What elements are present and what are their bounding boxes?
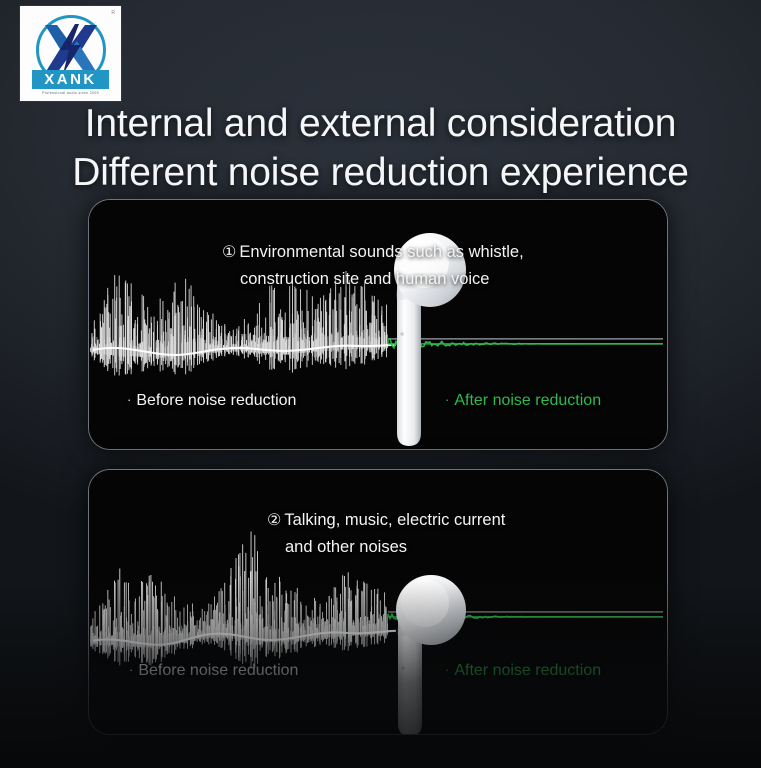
panel-1-before-label: ·Before noise reduction [127,390,296,411]
bullet-icon: · [127,392,131,407]
logo-x-bolt-icon [43,23,99,75]
panel-1-caption-line-2: construction site and human voice [240,266,524,292]
promo-graphic: XANK Professional audio since 2009 R Int… [0,0,761,768]
panel-2-before-text: Before noise reduction [138,662,298,679]
panel-2-caption-line-1: Talking, music, electric current [284,511,505,529]
panel-2-after-text: After noise reduction [454,662,601,679]
panel-1-number: ① [222,244,236,261]
panel-1-after-text: After noise reduction [454,392,601,409]
page-title: Internal and external consideration Diff… [0,99,761,197]
panel-1-after-label: ·After noise reduction [445,390,601,411]
noise-panel-2: ②Talking, music, electric current and ot… [88,469,668,735]
logo-wordmark: XANK [32,70,109,89]
panel-2-after-label: ·After noise reduction [445,660,601,681]
panel-1-before-text: Before noise reduction [136,392,296,409]
panel-2-number: ② [267,512,281,529]
bullet-icon: · [445,392,449,407]
bullet-icon: · [129,662,133,677]
bullet-icon: · [445,662,449,677]
panel-1-caption-line-1: Environmental sounds such as whistle, [239,243,523,261]
panel-2-before-label: ·Before noise reduction [129,660,298,681]
panel-2-caption: ②Talking, music, electric current and ot… [267,507,505,560]
earbud-image-2 [365,556,471,735]
logo-registered-mark: R [111,10,115,16]
headline-line-2: Different noise reduction experience [0,148,761,197]
noise-panel-1: ①Environmental sounds such as whistle, c… [88,199,668,450]
panel-2-caption-line-2: and other noises [285,534,505,560]
logo-tagline: Professional audio since 2009 [20,91,121,95]
headline-line-1: Internal and external consideration [0,99,761,148]
xank-logo: XANK Professional audio since 2009 R [20,6,121,101]
panel-1-caption: ①Environmental sounds such as whistle, c… [222,239,524,292]
